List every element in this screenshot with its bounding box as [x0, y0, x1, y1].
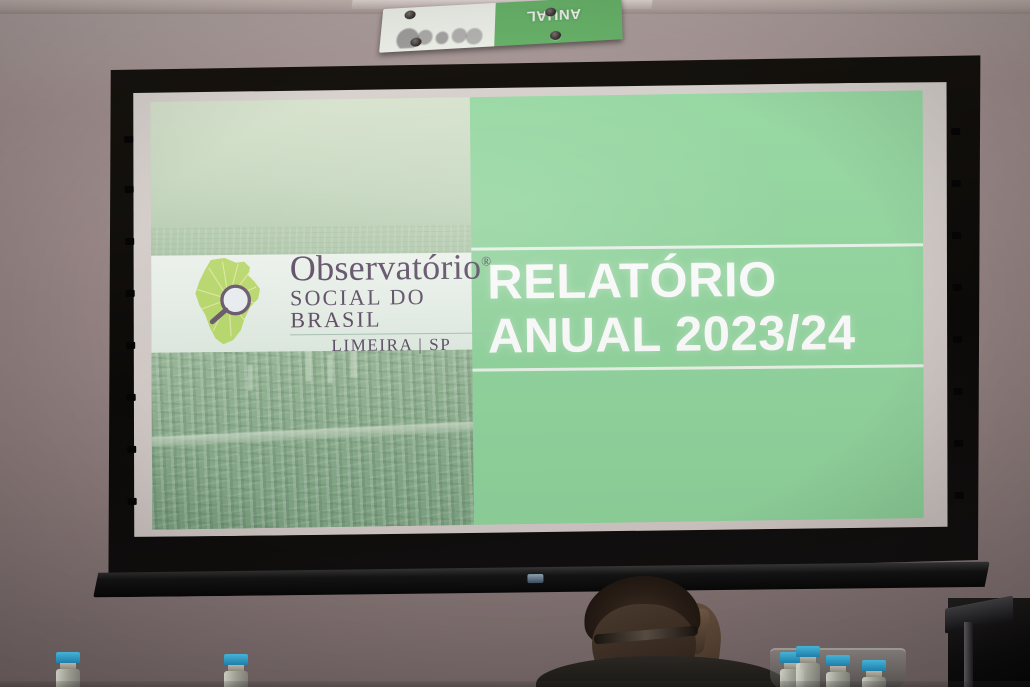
screen-tension-tab	[951, 128, 960, 135]
bottle-cap	[826, 655, 850, 666]
screen-tension-tab	[124, 136, 133, 143]
screen-tension-tab	[954, 388, 963, 395]
screen-tension-tab	[954, 440, 963, 447]
screen-tension-tab	[126, 342, 135, 349]
logo-subtitle: SOCIAL DO BRASIL	[290, 286, 492, 332]
screen-tension-tab	[126, 290, 135, 297]
av-equipment	[948, 598, 1030, 687]
slide-title: RELATÓRIO ANUAL 2023/24	[487, 253, 856, 364]
bottle-cap	[796, 646, 820, 657]
screen-tension-tab	[953, 284, 962, 291]
brazil-map-icon	[180, 254, 279, 353]
slide-green-panel: RELATÓRIO ANUAL 2023/24	[470, 90, 927, 526]
screen-tension-tab	[128, 498, 137, 505]
registered-trademark-icon: ®	[481, 254, 491, 269]
equipment-stem	[964, 622, 973, 687]
screen-tension-tab	[952, 232, 961, 239]
logo-wordmark: Observatório® SOCIAL DO BRASIL LIMEIRA |…	[290, 249, 493, 355]
slide-logo-band: Observatório® SOCIAL DO BRASIL LIMEIRA |…	[150, 252, 472, 352]
table-edge	[0, 681, 1030, 687]
slide-rule-bottom	[472, 365, 925, 372]
slide-rule-top	[471, 244, 924, 251]
projected-slide: RELATÓRIO ANUAL 2023/24	[148, 90, 927, 529]
projection-screen: RELATÓRIO ANUAL 2023/24	[83, 54, 994, 593]
logo-name-text: Observatório	[290, 247, 482, 289]
equipment-top-plate	[945, 595, 1013, 633]
screen-tension-tab	[125, 186, 134, 193]
logo-city: LIMEIRA | SP	[290, 336, 492, 355]
bottle-cap	[224, 654, 248, 665]
logo-name: Observatório®	[290, 249, 492, 287]
screen-tension-tab	[953, 336, 962, 343]
bottle-cap	[862, 660, 886, 671]
screen-tension-tab	[127, 446, 136, 453]
screen-tension-tab	[952, 180, 961, 187]
screenshot-root: ANUAL	[0, 0, 1030, 687]
screen-tension-tab	[125, 238, 134, 245]
screen-tension-tab	[127, 394, 136, 401]
presenter-person	[548, 574, 768, 687]
screen-brand-badge	[528, 574, 544, 583]
bottle-cap	[56, 652, 80, 663]
screen-tension-tab	[955, 492, 964, 499]
